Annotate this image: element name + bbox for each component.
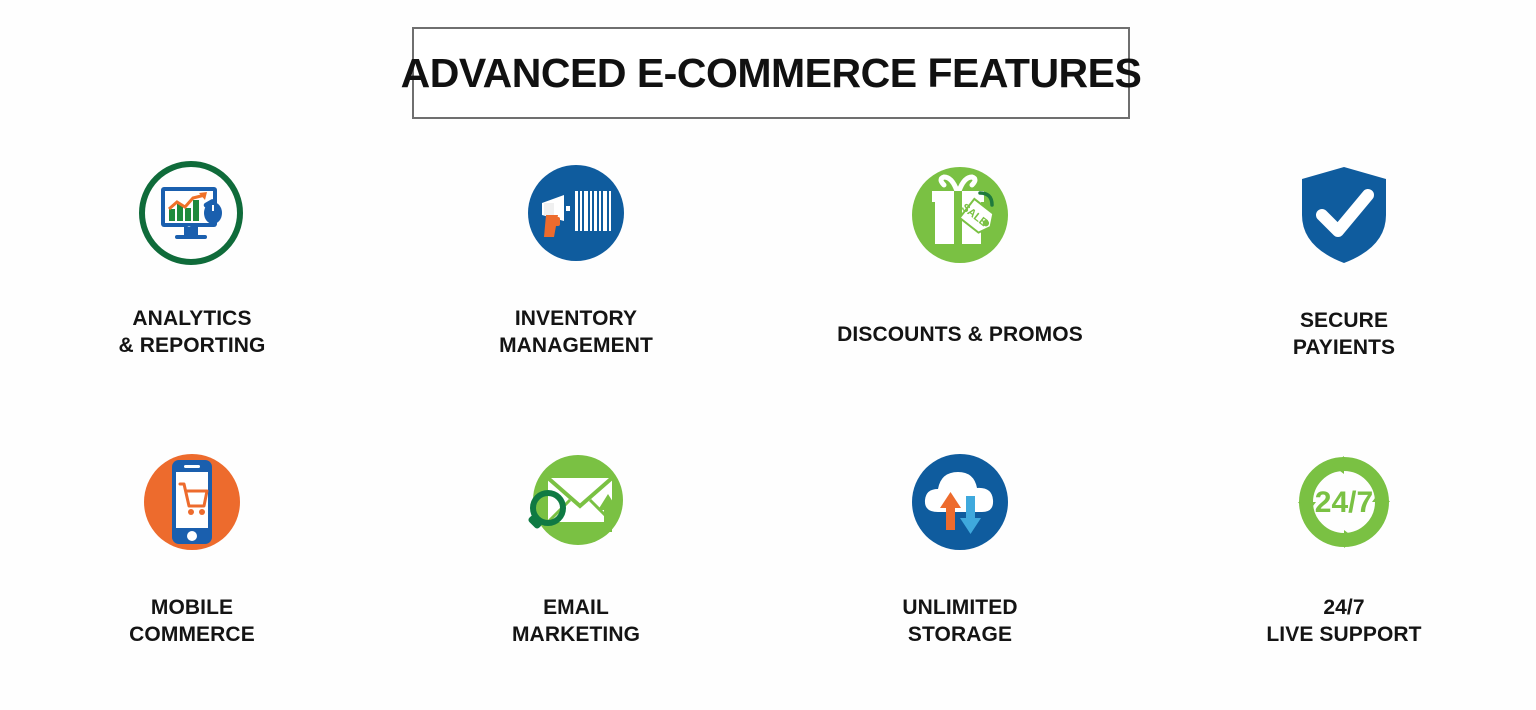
ring-text: 24/7 bbox=[1315, 486, 1373, 519]
feature-label: INVENTORY MANAGEMENT bbox=[499, 306, 653, 360]
feature-label: SECURE PAYIENTS bbox=[1293, 308, 1395, 362]
feature-item-discounts-promos[interactable]: SALE DISCOUNTS & PROMOS bbox=[768, 140, 1152, 425]
feature-label: DISCOUNTS & PROMOS bbox=[837, 322, 1083, 349]
mobile-shopping-cart-icon bbox=[137, 447, 247, 557]
24-7-support-cycle-icon: 24/7 bbox=[1289, 447, 1399, 557]
feature-label: 24/7 LIVE SUPPORT bbox=[1266, 595, 1421, 649]
barcode-scanner-icon bbox=[521, 158, 631, 268]
feature-label: MOBILE COMMERCE bbox=[129, 595, 255, 649]
gift-sale-tag-icon: SALE bbox=[905, 160, 1015, 270]
feature-item-analytics-reporting[interactable]: ANALYTICS & REPORTING bbox=[0, 140, 384, 425]
feature-label: EMAIL MARKETING bbox=[512, 595, 640, 649]
slide-canvas: ADVANCED E-COMMERCE FEATURES bbox=[0, 0, 1536, 672]
feature-item-unlimited-storage[interactable]: UNLIMITED STORAGE bbox=[768, 425, 1152, 710]
feature-item-inventory-management[interactable]: INVENTORY MANAGEMENT bbox=[384, 140, 768, 425]
feature-label: ANALYTICS & REPORTING bbox=[119, 306, 266, 360]
feature-label: UNLIMITED STORAGE bbox=[902, 595, 1017, 649]
features-grid: ANALYTICS & REPORTING bbox=[0, 140, 1536, 710]
page-title-box: ADVANCED E-COMMERCE FEATURES bbox=[412, 27, 1130, 119]
analytics-monitor-chart-icon bbox=[136, 158, 246, 268]
features-row-2: MOBILE COMMERCE bbox=[0, 425, 1536, 710]
feature-item-secure-payments[interactable]: SECURE PAYIENTS bbox=[1152, 140, 1536, 425]
page-title: ADVANCED E-COMMERCE FEATURES bbox=[401, 50, 1142, 97]
feature-item-live-support[interactable]: 24/7 24/7 LIVE SUPPORT bbox=[1152, 425, 1536, 710]
feature-item-mobile-commerce[interactable]: MOBILE COMMERCE bbox=[0, 425, 384, 710]
feature-item-email-marketing[interactable]: EMAIL MARKETING bbox=[384, 425, 768, 710]
features-row-1: ANALYTICS & REPORTING bbox=[0, 140, 1536, 425]
shield-check-icon bbox=[1289, 160, 1399, 270]
cloud-upload-download-icon bbox=[905, 447, 1015, 557]
email-envelope-search-icon bbox=[521, 447, 631, 557]
